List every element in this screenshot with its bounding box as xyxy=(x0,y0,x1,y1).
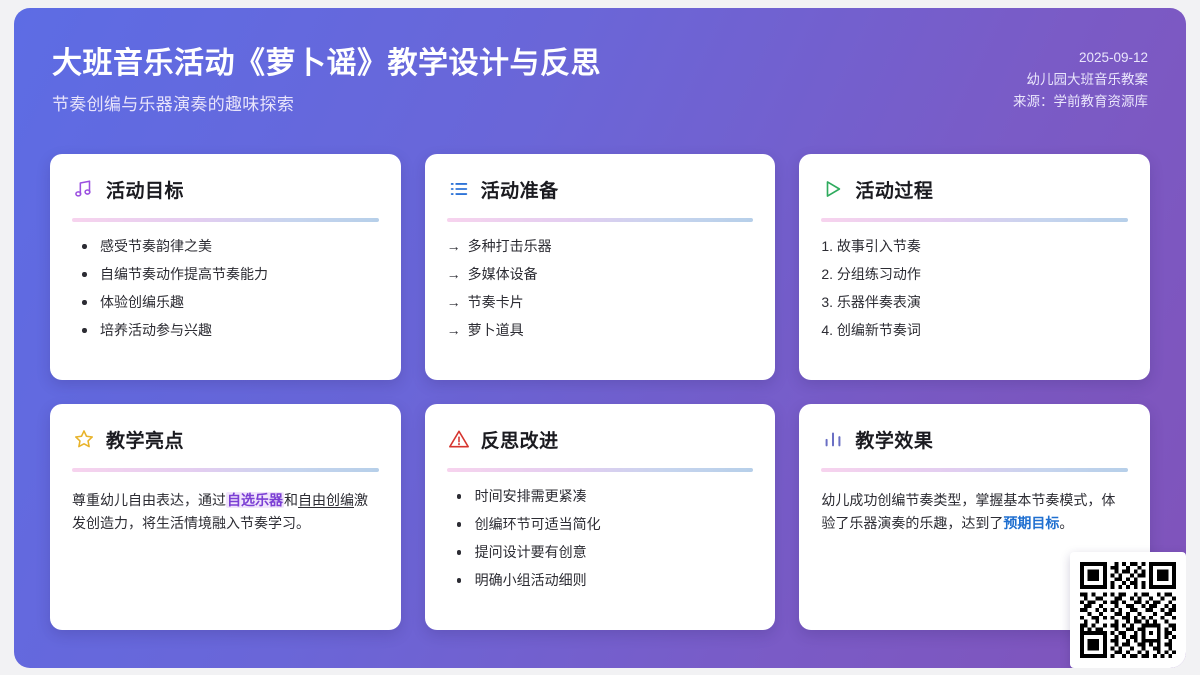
card-title: 活动目标 xyxy=(106,176,184,203)
list-item: 提问设计要有创意 xyxy=(447,545,754,559)
play-triangle-icon xyxy=(821,177,845,201)
card-title: 反思改进 xyxy=(481,426,559,453)
process-list: 故事引入节奏 分组练习动作 乐器伴奏表演 创编新节奏词 xyxy=(821,239,1128,337)
card-header: 活动准备 xyxy=(447,174,754,204)
card-divider xyxy=(447,468,754,472)
card-header: 教学效果 xyxy=(821,424,1128,454)
slide-header: 大班音乐活动《萝卜谣》教学设计与反思 节奏创编与乐器演奏的趣味探索 2025-0… xyxy=(14,8,1186,148)
card-title: 教学亮点 xyxy=(106,426,184,453)
list-item-label: 节奏卡片 xyxy=(468,294,524,310)
list-item: →节奏卡片 xyxy=(447,295,754,309)
card-title: 活动过程 xyxy=(855,176,933,203)
music-note-icon xyxy=(72,177,96,201)
card-divider xyxy=(72,468,379,472)
meta-date: 2025-09-12 xyxy=(1013,47,1148,69)
card-highlights[interactable]: 教学亮点 尊重幼儿自由表达，通过自选乐器和自由创编激发创造力，将生活情境融入节奏… xyxy=(50,404,401,630)
card-header: 反思改进 xyxy=(447,424,754,454)
list-item: 分组练习动作 xyxy=(821,267,1128,281)
list-item-label: 多种打击乐器 xyxy=(468,238,552,254)
reflection-list: 时间安排需更紧凑 创编环节可适当简化 提问设计要有创意 明确小组活动细则 xyxy=(447,489,754,587)
meta-source: 来源：学前教育资源库 xyxy=(1013,91,1148,113)
card-title: 教学效果 xyxy=(855,426,933,453)
card-preparation[interactable]: 活动准备 →多种打击乐器 →多媒体设备 →节奏卡片 →萝卜道具 xyxy=(425,154,776,380)
card-body: →多种打击乐器 →多媒体设备 →节奏卡片 →萝卜道具 xyxy=(447,239,754,337)
highlights-paragraph: 尊重幼儿自由表达，通过自选乐器和自由创编激发创造力，将生活情境融入节奏学习。 xyxy=(72,489,379,534)
list-item-label: 多媒体设备 xyxy=(468,266,538,282)
outcome-paragraph: 幼儿成功创编节奏类型，掌握基本节奏模式，体验了乐器演奏的乐趣，达到了预期目标。 xyxy=(821,489,1128,534)
arrow-glyph: → xyxy=(447,322,461,338)
list-item: 创编环节可适当简化 xyxy=(447,517,754,531)
header-meta-block: 2025-09-12 幼儿园大班音乐教案 来源：学前教育资源库 xyxy=(1013,42,1148,113)
objectives-list: 感受节奏韵律之美 自编节奏动作提高节奏能力 体验创编乐趣 培养活动参与兴趣 xyxy=(72,239,379,337)
card-process[interactable]: 活动过程 故事引入节奏 分组练习动作 乐器伴奏表演 创编新节奏词 xyxy=(799,154,1150,380)
highlight-free-creation: 自由创编 xyxy=(298,492,354,508)
qr-code-image xyxy=(1080,562,1176,658)
card-header: 教学亮点 xyxy=(72,424,379,454)
card-grid: 活动目标 感受节奏韵律之美 自编节奏动作提高节奏能力 体验创编乐趣 培养活动参与… xyxy=(50,154,1150,630)
warning-triangle-icon xyxy=(447,427,471,451)
card-body: 感受节奏韵律之美 自编节奏动作提高节奏能力 体验创编乐趣 培养活动参与兴趣 xyxy=(72,239,379,337)
star-icon xyxy=(72,427,96,451)
card-body: 幼儿成功创编节奏类型，掌握基本节奏模式，体验了乐器演奏的乐趣，达到了预期目标。 xyxy=(821,489,1128,534)
arrow-glyph: → xyxy=(447,266,461,282)
text-part: 。 xyxy=(1059,515,1073,531)
arrow-glyph: → xyxy=(447,238,461,254)
card-divider xyxy=(821,468,1128,472)
list-item: 乐器伴奏表演 xyxy=(821,295,1128,309)
highlight-self-chosen-instrument: 自选乐器 xyxy=(226,492,284,508)
content-panel: 大班音乐活动《萝卜谣》教学设计与反思 节奏创编与乐器演奏的趣味探索 2025-0… xyxy=(14,8,1186,668)
list-item: 明确小组活动细则 xyxy=(447,573,754,587)
header-title-block: 大班音乐活动《萝卜谣》教学设计与反思 节奏创编与乐器演奏的趣味探索 xyxy=(52,42,601,115)
list-item-label: 萝卜道具 xyxy=(468,322,524,338)
card-divider xyxy=(821,218,1128,222)
page-title: 大班音乐活动《萝卜谣》教学设计与反思 xyxy=(52,46,601,81)
meta-category: 幼儿园大班音乐教案 xyxy=(1013,69,1148,91)
arrow-glyph: → xyxy=(447,294,461,310)
card-header: 活动过程 xyxy=(821,174,1128,204)
list-item: 感受节奏韵律之美 xyxy=(72,239,379,253)
card-header: 活动目标 xyxy=(72,174,379,204)
card-body: 故事引入节奏 分组练习动作 乐器伴奏表演 创编新节奏词 xyxy=(821,239,1128,337)
text-part: 尊重幼儿自由表达，通过 xyxy=(72,492,226,508)
card-divider xyxy=(72,218,379,222)
card-title: 活动准备 xyxy=(481,176,559,203)
list-item: 时间安排需更紧凑 xyxy=(447,489,754,503)
list-item: →多媒体设备 xyxy=(447,267,754,281)
highlight-expected-goal: 预期目标 xyxy=(1003,515,1059,531)
list-item: 自编节奏动作提高节奏能力 xyxy=(72,267,379,281)
list-item: 培养活动参与兴趣 xyxy=(72,323,379,337)
card-body: 尊重幼儿自由表达，通过自选乐器和自由创编激发创造力，将生活情境融入节奏学习。 xyxy=(72,489,379,534)
list-item: 创编新节奏词 xyxy=(821,323,1128,337)
list-item: 体验创编乐趣 xyxy=(72,295,379,309)
page-subtitle: 节奏创编与乐器演奏的趣味探索 xyxy=(52,90,601,115)
text-part: 和 xyxy=(284,492,298,508)
list-item: →多种打击乐器 xyxy=(447,239,754,253)
card-body: 时间安排需更紧凑 创编环节可适当简化 提问设计要有创意 明确小组活动细则 xyxy=(447,489,754,587)
list-icon xyxy=(447,177,471,201)
list-item: 故事引入节奏 xyxy=(821,239,1128,253)
card-divider xyxy=(447,218,754,222)
card-reflection[interactable]: 反思改进 时间安排需更紧凑 创编环节可适当简化 提问设计要有创意 明确小组活动细… xyxy=(425,404,776,630)
qr-code[interactable] xyxy=(1070,552,1186,668)
card-objectives[interactable]: 活动目标 感受节奏韵律之美 自编节奏动作提高节奏能力 体验创编乐趣 培养活动参与… xyxy=(50,154,401,380)
slide-root: 大班音乐活动《萝卜谣》教学设计与反思 节奏创编与乐器演奏的趣味探索 2025-0… xyxy=(0,0,1200,675)
list-item: →萝卜道具 xyxy=(447,323,754,337)
bar-chart-icon xyxy=(821,427,845,451)
preparation-list: →多种打击乐器 →多媒体设备 →节奏卡片 →萝卜道具 xyxy=(447,239,754,337)
